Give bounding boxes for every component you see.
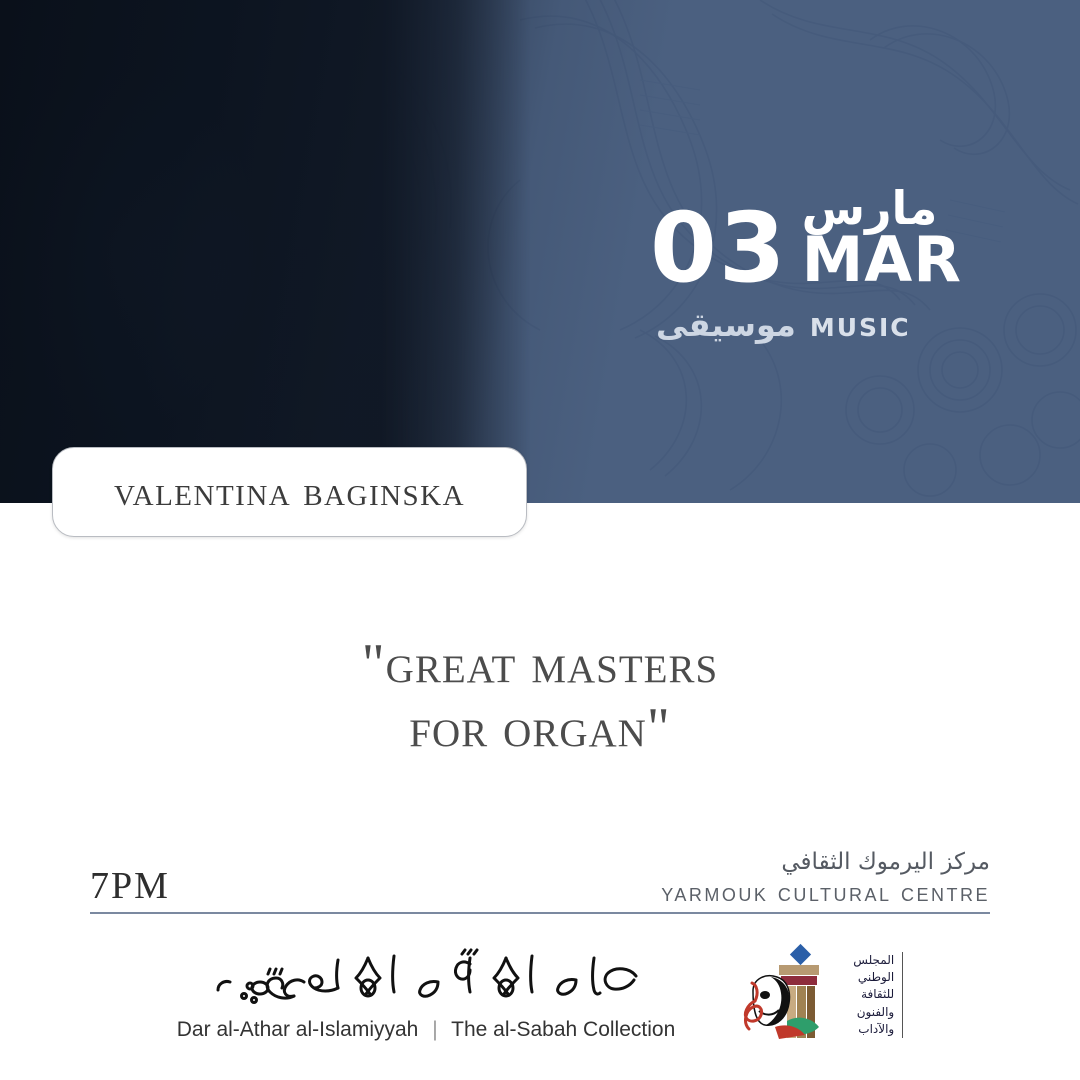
dar-al-athar-logo: Dar al-Athar al-Islamiyyah | The al-Saba…: [177, 948, 676, 1042]
category-label-english: Music: [810, 304, 911, 345]
event-details: 7PM مركز اليرموك الثقافي Yarmouk Cultura…: [90, 848, 990, 908]
nccal-arabic-name: المجلس الوطني للثقافة والفنون والآداب: [853, 952, 903, 1039]
venue-name-english: Yarmouk Cultural Centre: [661, 879, 990, 908]
daai-caption-separator: |: [424, 1018, 445, 1041]
date-row: 03 مارس MAR: [650, 185, 990, 290]
category-label-arabic: موسيقى: [656, 306, 796, 344]
month-stack: مارس MAR: [802, 185, 962, 290]
nccal-emblem-icon: [735, 943, 845, 1048]
daai-caption-right: The al-Sabah Collection: [451, 1018, 675, 1041]
banner: 03 مارس MAR موسيقى Music: [0, 0, 1080, 503]
dar-al-athar-caption: Dar al-Athar al-Islamiyyah | The al-Saba…: [177, 1018, 676, 1042]
venue-block: مركز اليرموك الثقافي Yarmouk Cultural Ce…: [661, 848, 990, 908]
section-divider: [90, 912, 990, 914]
date-block: 03 مارس MAR موسيقى Music: [650, 185, 990, 345]
date-day: 03: [650, 207, 788, 290]
nccal-line-5: والآداب: [853, 1021, 894, 1038]
program-title: "Great Masters for Organ": [0, 632, 1080, 761]
performer-name-plate: Valentina Baginska: [52, 447, 527, 537]
category-row: موسيقى Music: [656, 304, 990, 345]
dar-al-athar-calligraphy-icon: [206, 948, 646, 1010]
performer-name: Valentina Baginska: [114, 468, 465, 516]
nccal-logo: المجلس الوطني للثقافة والفنون والآداب: [735, 943, 903, 1048]
nccal-line-3: للثقافة: [853, 986, 894, 1003]
nccal-line-1: المجلس: [853, 952, 894, 969]
performer-photo: [0, 0, 530, 503]
nccal-line-2: الوطني: [853, 969, 894, 986]
daai-caption-left: Dar al-Athar al-Islamiyyah: [177, 1018, 419, 1041]
nccal-line-4: والفنون: [853, 1004, 894, 1021]
footer-logos: Dar al-Athar al-Islamiyyah | The al-Saba…: [0, 930, 1080, 1060]
date-month-english: MAR: [802, 231, 962, 288]
event-time: 7PM: [90, 864, 170, 908]
event-poster: 03 مارس MAR موسيقى Music Valentina Bagin…: [0, 0, 1080, 1080]
venue-name-arabic: مركز اليرموك الثقافي: [661, 848, 990, 877]
